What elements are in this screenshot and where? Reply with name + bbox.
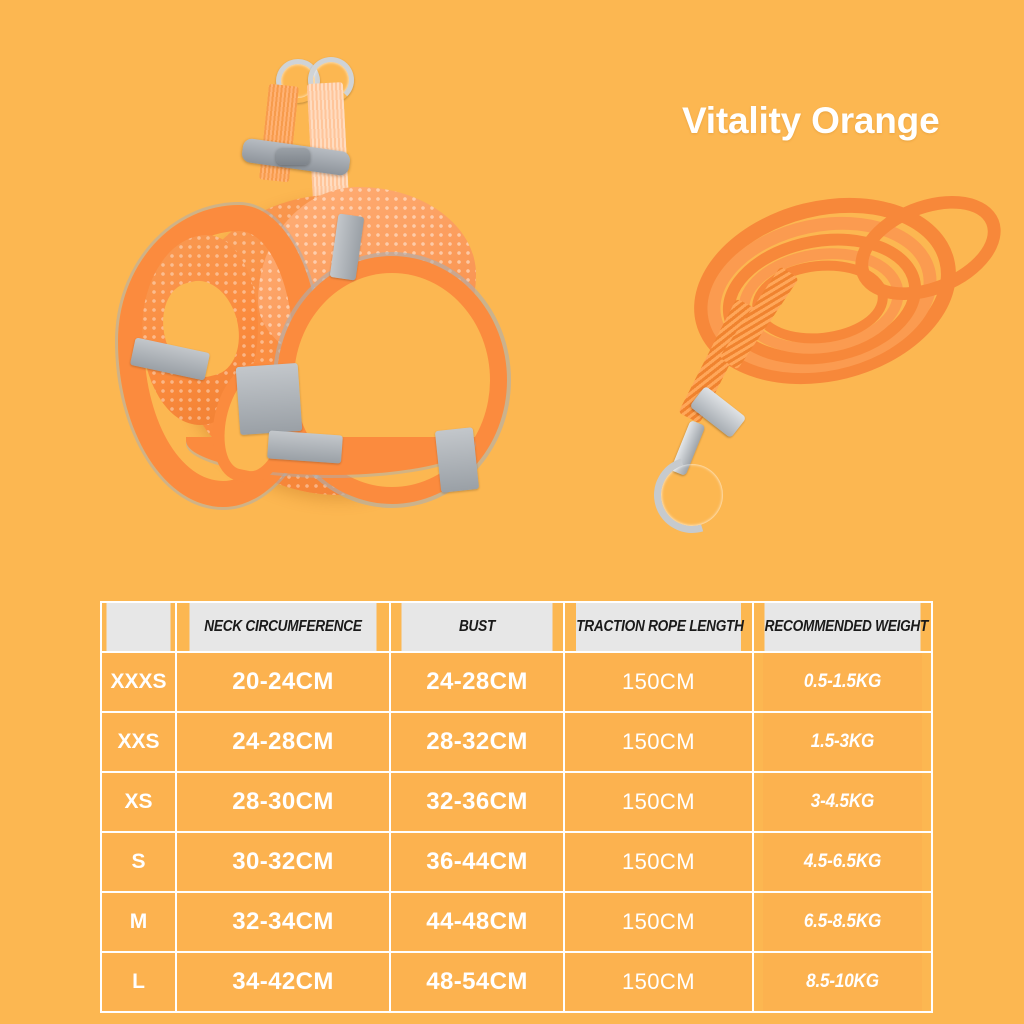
column-header-size [106,602,172,652]
column-header-neck-circumference: NECK CIRCUMFERENCE [189,602,377,652]
neck-strap-light [307,82,349,204]
reflective-strip [267,430,343,463]
cell-rope: 150CM [564,652,753,712]
table-header-row: NECK CIRCUMFERENCE BUST TRACTION ROPE LE… [101,602,932,652]
column-header-traction-rope-length: TRACTION ROPE LENGTH [575,602,741,652]
cell-bust: 24-28CM [390,652,564,712]
cell-size: S [101,832,176,892]
cell-rope: 150CM [564,832,753,892]
product-image-canvas: Vitality Orange [0,0,1024,1024]
cell-neck: 30-32CM [176,832,390,892]
column-header-recommended-weight: RECOMMENDED WEIGHT [764,602,922,652]
cell-weight: 1.5-3KG [762,712,923,772]
table-row: XXS 24-28CM 28-32CM 150CM 1.5-3KG [101,712,932,772]
cell-size: XXS [101,712,176,772]
table-row: L 34-42CM 48-54CM 150CM 8.5-10KG [101,952,932,1012]
table-row: XXXS 20-24CM 24-28CM 150CM 0.5-1.5KG [101,652,932,712]
cell-bust: 44-48CM [390,892,564,952]
cell-rope: 150CM [564,952,753,1012]
column-header-bust: BUST [400,602,553,652]
cell-weight: 6.5-8.5KG [762,892,923,952]
leash-illustration [640,185,1000,565]
cell-neck: 34-42CM [176,952,390,1012]
cell-rope: 150CM [564,712,753,772]
page-title: Vitality Orange [682,100,939,142]
reflective-strip [435,427,479,493]
cell-size: L [101,952,176,1012]
cell-bust: 28-32CM [390,712,564,772]
cell-weight: 3-4.5KG [762,772,923,832]
table-row: S 30-32CM 36-44CM 150CM 4.5-6.5KG [101,832,932,892]
table-row: XS 28-30CM 32-36CM 150CM 3-4.5KG [101,772,932,832]
cell-weight: 4.5-6.5KG [762,832,923,892]
size-chart: NECK CIRCUMFERENCE BUST TRACTION ROPE LE… [100,601,933,1013]
cell-rope: 150CM [564,892,753,952]
reflective-strip [236,363,303,435]
cell-size: XS [101,772,176,832]
cell-neck: 20-24CM [176,652,390,712]
cell-bust: 48-54CM [390,952,564,1012]
harness-illustration [90,45,550,565]
adjuster-buckle-tab [276,148,310,165]
cell-neck: 28-30CM [176,772,390,832]
cell-neck: 32-34CM [176,892,390,952]
table-body: XXXS 20-24CM 24-28CM 150CM 0.5-1.5KG XXS… [101,652,932,1012]
table-row: M 32-34CM 44-48CM 150CM 6.5-8.5KG [101,892,932,952]
cell-size: XXXS [101,652,176,712]
cell-rope: 150CM [564,772,753,832]
snap-hook-icon [641,444,744,547]
cell-size: M [101,892,176,952]
cell-weight: 8.5-10KG [762,952,923,1012]
cell-weight: 0.5-1.5KG [762,652,923,712]
cell-bust: 32-36CM [390,772,564,832]
cell-neck: 24-28CM [176,712,390,772]
cell-bust: 36-44CM [390,832,564,892]
